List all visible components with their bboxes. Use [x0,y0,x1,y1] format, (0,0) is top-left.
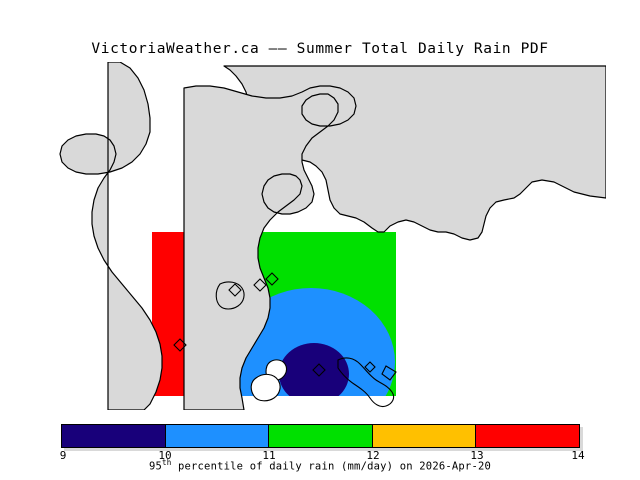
weather-map-figure: VictoriaWeather.ca —— Summer Total Daily… [0,0,640,480]
contour-band-9-10 [279,343,349,405]
map-canvas[interactable] [34,62,606,410]
colorbar-segment-13-14[interactable] [475,425,579,447]
colorbar-segments[interactable] [61,424,580,448]
island-west-inlet [216,282,244,309]
island-southwest-blob [251,374,280,400]
colorbar-caption: 95th percentile of daily rain (mm/day) o… [0,458,640,473]
colorbar-segment-11-12[interactable] [268,425,372,447]
colorbar-segment-9-10[interactable] [62,425,165,447]
caption-rest: percentile of daily rain (mm/day) on 202… [171,461,491,473]
map-panel[interactable] [34,62,606,410]
colorbar[interactable] [61,424,580,448]
page-title: VictoriaWeather.ca —— Summer Total Daily… [0,41,640,57]
colorbar-segment-10-11[interactable] [165,425,269,447]
caption-percentile-number: 95 [149,461,162,473]
colorbar-segment-12-13[interactable] [372,425,476,447]
